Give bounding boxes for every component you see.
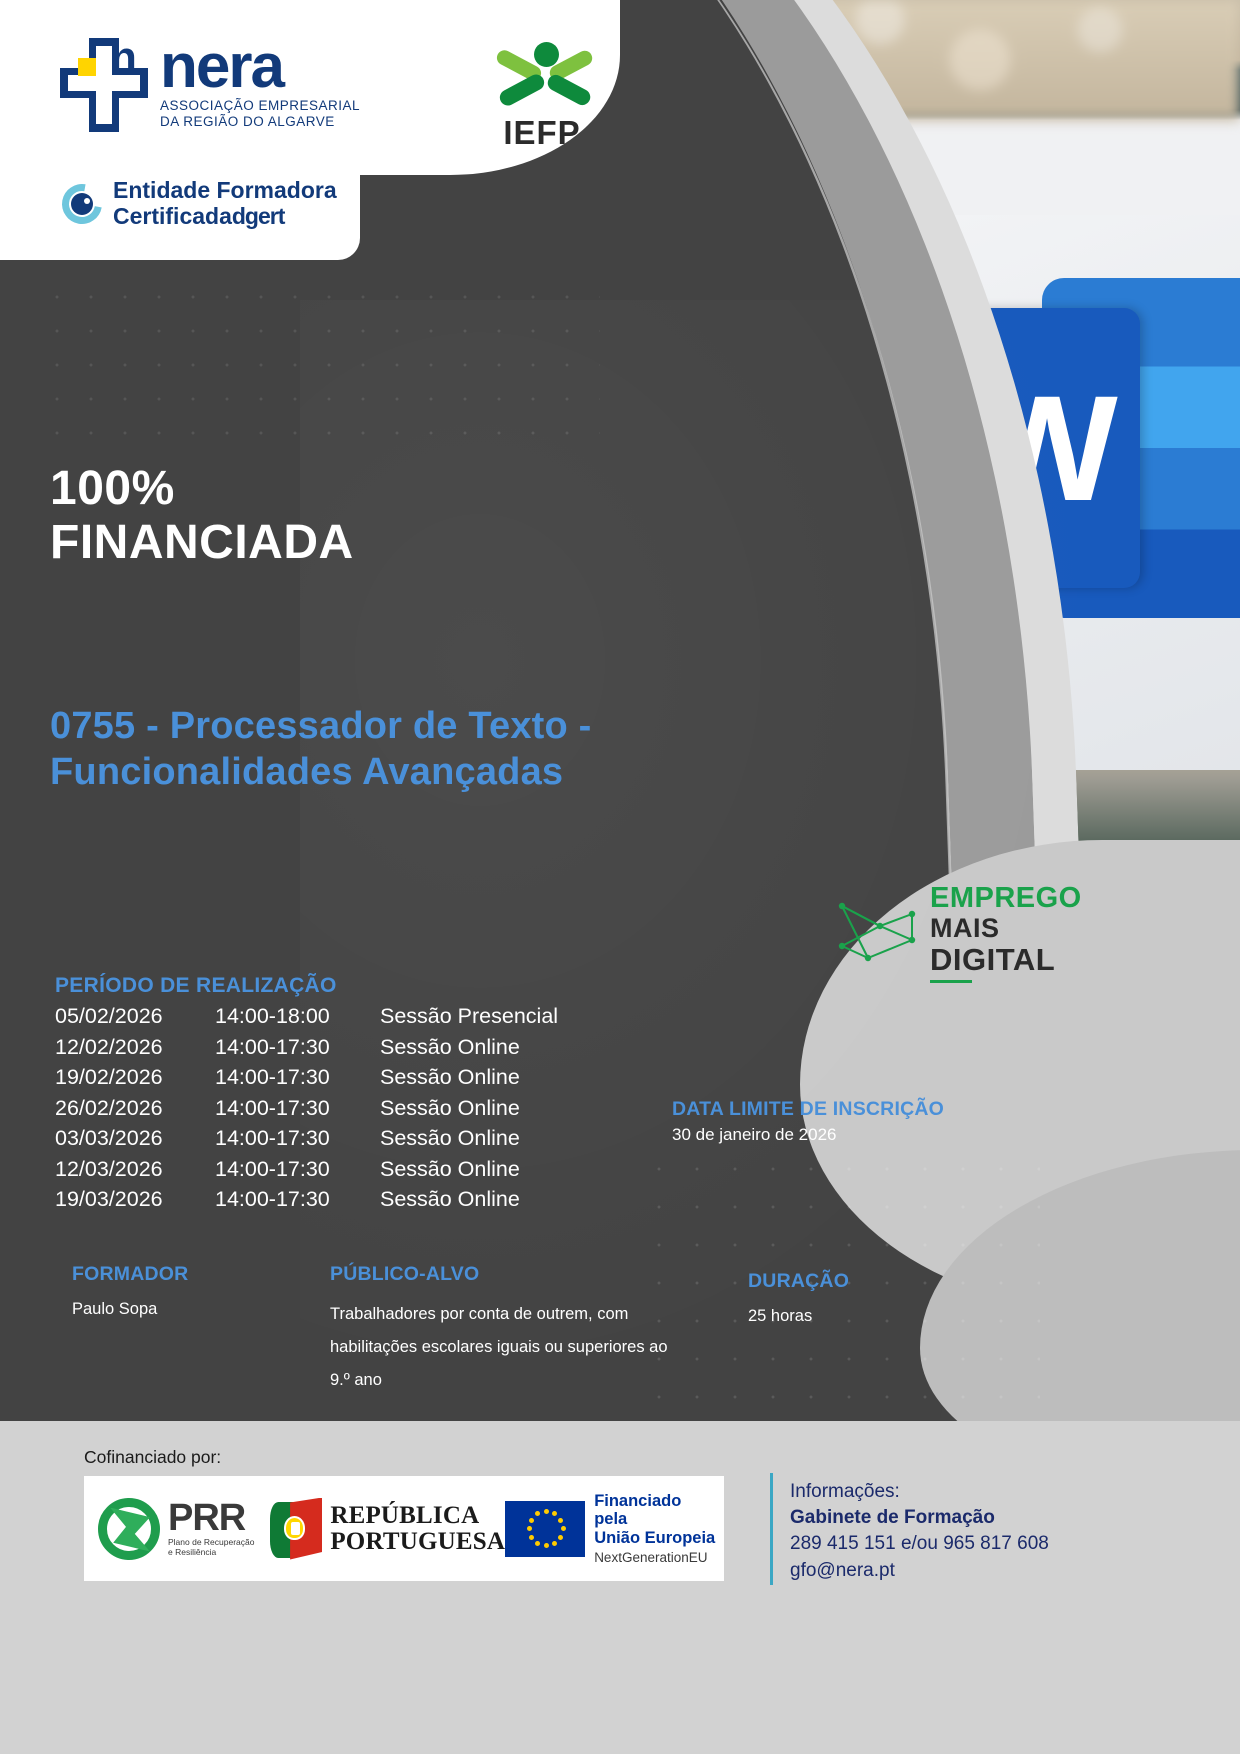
schedule-row: 05/02/202614:00-18:00Sessão Presencial bbox=[55, 1001, 558, 1032]
republica-line2: PORTUGUESA bbox=[330, 1529, 505, 1555]
course-title: 0755 - Processador de Texto - Funcionali… bbox=[50, 703, 610, 796]
audience-heading: PÚBLICO-ALVO bbox=[330, 1263, 680, 1286]
schedule-time: 14:00-17:30 bbox=[215, 1184, 380, 1215]
schedule-date: 26/02/2026 bbox=[55, 1093, 215, 1124]
emd-line-digital: DIGITAL bbox=[930, 944, 1082, 975]
schedule-date: 03/03/2026 bbox=[55, 1123, 215, 1154]
eu-line2: União Europeia bbox=[594, 1529, 716, 1547]
schedule-time: 14:00-18:00 bbox=[215, 1001, 380, 1032]
schedule-mode: Sessão Online bbox=[380, 1093, 558, 1124]
nera-cross-n-letter: n bbox=[110, 36, 137, 80]
dgert-label-line2: Certificada bbox=[113, 203, 232, 229]
schedule-mode: Sessão Online bbox=[380, 1184, 558, 1215]
prr-wordmark: PRR bbox=[168, 1500, 254, 1536]
eu-star-icon bbox=[535, 1511, 540, 1516]
nera-cross-icon: n bbox=[58, 36, 150, 134]
nera-logo: n nera ASSOCIAÇÃO EMPRESARIAL DA REGIÃO … bbox=[58, 36, 360, 134]
republica-line1: REPÚBLICA bbox=[330, 1503, 505, 1529]
schedule-row: 19/03/202614:00-17:30Sessão Online bbox=[55, 1184, 558, 1215]
dgert-icon bbox=[62, 184, 102, 224]
emd-line-emprego: EMPREGO bbox=[930, 884, 1082, 913]
network-nodes-icon bbox=[838, 896, 916, 972]
iefp-figure-icon bbox=[494, 42, 590, 112]
nera-subtitle-line2: DA REGIÃO DO ALGARVE bbox=[160, 114, 360, 130]
duration-value: 25 horas bbox=[748, 1305, 978, 1328]
prr-subtitle-line2: e Resiliência bbox=[168, 1548, 254, 1558]
schedule-row: 12/02/202614:00-17:30Sessão Online bbox=[55, 1032, 558, 1063]
eu-line3: NextGenerationEU bbox=[594, 1550, 716, 1565]
duration-heading: DURAÇÃO bbox=[748, 1270, 978, 1293]
contact-email[interactable]: gfo@nera.pt bbox=[790, 1558, 1049, 1584]
schedule-time: 14:00-17:30 bbox=[215, 1154, 380, 1185]
funding-logos-strip: PRR Plano de Recuperação e Resiliência R… bbox=[84, 1476, 724, 1581]
schedule-mode: Sessão Presencial bbox=[380, 1001, 558, 1032]
portugal-flag-icon bbox=[270, 1498, 320, 1560]
eu-star-icon bbox=[552, 1541, 557, 1546]
eu-star-icon bbox=[558, 1535, 563, 1540]
prr-logo: PRR Plano de Recuperação e Resiliência bbox=[92, 1498, 270, 1560]
deadline-value: 30 de janeiro de 2026 bbox=[672, 1125, 944, 1145]
contact-info: Informações: Gabinete de Formação 289 41… bbox=[790, 1479, 1049, 1584]
contact-office: Gabinete de Formação bbox=[790, 1505, 1049, 1531]
republica-portuguesa-logo: REPÚBLICA PORTUGUESA bbox=[270, 1498, 505, 1560]
funding-headline: 100% FINANCIADA bbox=[50, 462, 354, 570]
nera-subtitle-line1: ASSOCIAÇÃO EMPRESARIAL bbox=[160, 98, 360, 114]
poster-root: W n nera ASSOCIAÇÃO EMPRESARIAL DA REGIÃ… bbox=[0, 0, 1240, 1754]
european-union-logo: Financiado pela União Europeia NextGener… bbox=[505, 1492, 716, 1565]
dgert-label-line1: Entidade Formadora bbox=[113, 178, 337, 204]
contact-divider bbox=[770, 1473, 773, 1585]
schedule-date: 12/03/2026 bbox=[55, 1154, 215, 1185]
schedule-mode: Sessão Online bbox=[380, 1123, 558, 1154]
prr-icon bbox=[98, 1498, 160, 1560]
eu-star-icon bbox=[558, 1518, 563, 1523]
deadline-heading: DATA LIMITE DE INSCRIÇÃO bbox=[672, 1098, 944, 1121]
schedule-time: 14:00-17:30 bbox=[215, 1062, 380, 1093]
registration-deadline-section: DATA LIMITE DE INSCRIÇÃO 30 de janeiro d… bbox=[672, 1098, 944, 1145]
schedule-section: PERÍODO DE REALIZAÇÃO 05/02/202614:00-18… bbox=[55, 974, 558, 1215]
schedule-date: 19/02/2026 bbox=[55, 1062, 215, 1093]
eu-star-icon bbox=[529, 1535, 534, 1540]
schedule-date: 19/03/2026 bbox=[55, 1184, 215, 1215]
emprego-mais-digital-logo: EMPREGO MAIS DIGITAL bbox=[838, 884, 1082, 983]
contact-phones[interactable]: 289 415 151 e/ou 965 817 608 bbox=[790, 1531, 1049, 1557]
trainer-value: Paulo Sopa bbox=[72, 1298, 302, 1321]
cofinanced-label: Cofinanciado por: bbox=[84, 1447, 221, 1468]
eu-star-icon bbox=[544, 1543, 549, 1548]
nera-wordmark: nera bbox=[160, 38, 360, 95]
eu-star-icon bbox=[552, 1511, 557, 1516]
schedule-date: 12/02/2026 bbox=[55, 1032, 215, 1063]
schedule-mode: Sessão Online bbox=[380, 1154, 558, 1185]
dgert-certification-badge: Entidade Formadora Certificadadgert bbox=[62, 178, 337, 230]
eu-star-icon bbox=[535, 1541, 540, 1546]
schedule-heading: PERÍODO DE REALIZAÇÃO bbox=[55, 974, 558, 998]
eu-star-icon bbox=[544, 1509, 549, 1514]
funding-word: FINANCIADA bbox=[50, 516, 354, 570]
schedule-mode: Sessão Online bbox=[380, 1032, 558, 1063]
eu-star-icon bbox=[527, 1526, 532, 1531]
schedule-row: 26/02/202614:00-17:30Sessão Online bbox=[55, 1093, 558, 1124]
schedule-mode: Sessão Online bbox=[380, 1062, 558, 1093]
schedule-row: 19/02/202614:00-17:30Sessão Online bbox=[55, 1062, 558, 1093]
schedule-time: 14:00-17:30 bbox=[215, 1093, 380, 1124]
duration-block: DURAÇÃO 25 horas bbox=[748, 1270, 978, 1328]
schedule-date: 05/02/2026 bbox=[55, 1001, 215, 1032]
dgert-mark-text: dgert bbox=[232, 203, 285, 229]
audience-value: Trabalhadores por conta de outrem, com h… bbox=[330, 1298, 680, 1397]
funding-percent: 100% bbox=[50, 462, 354, 516]
schedule-time: 14:00-17:30 bbox=[215, 1123, 380, 1154]
iefp-wordmark: IEFP bbox=[487, 114, 597, 152]
eu-star-icon bbox=[529, 1518, 534, 1523]
schedule-time: 14:00-17:30 bbox=[215, 1032, 380, 1063]
emd-underline bbox=[930, 980, 972, 983]
eu-flag-icon bbox=[505, 1501, 585, 1557]
footer: Cofinanciado por: PRR Plano de Recuperaç… bbox=[0, 1421, 1240, 1754]
eu-line1: Financiado pela bbox=[594, 1492, 716, 1529]
trainer-heading: FORMADOR bbox=[72, 1263, 302, 1286]
schedule-row: 12/03/202614:00-17:30Sessão Online bbox=[55, 1154, 558, 1185]
contact-label: Informações: bbox=[790, 1479, 1049, 1505]
eu-star-icon bbox=[561, 1526, 566, 1531]
emd-line-mais: MAIS bbox=[930, 915, 1082, 942]
schedule-table: 05/02/202614:00-18:00Sessão Presencial12… bbox=[55, 1001, 558, 1215]
audience-block: PÚBLICO-ALVO Trabalhadores por conta de … bbox=[330, 1263, 680, 1397]
trainer-block: FORMADOR Paulo Sopa bbox=[72, 1263, 302, 1321]
schedule-row: 03/03/202614:00-17:30Sessão Online bbox=[55, 1123, 558, 1154]
iefp-logo: IEFP bbox=[487, 42, 597, 152]
